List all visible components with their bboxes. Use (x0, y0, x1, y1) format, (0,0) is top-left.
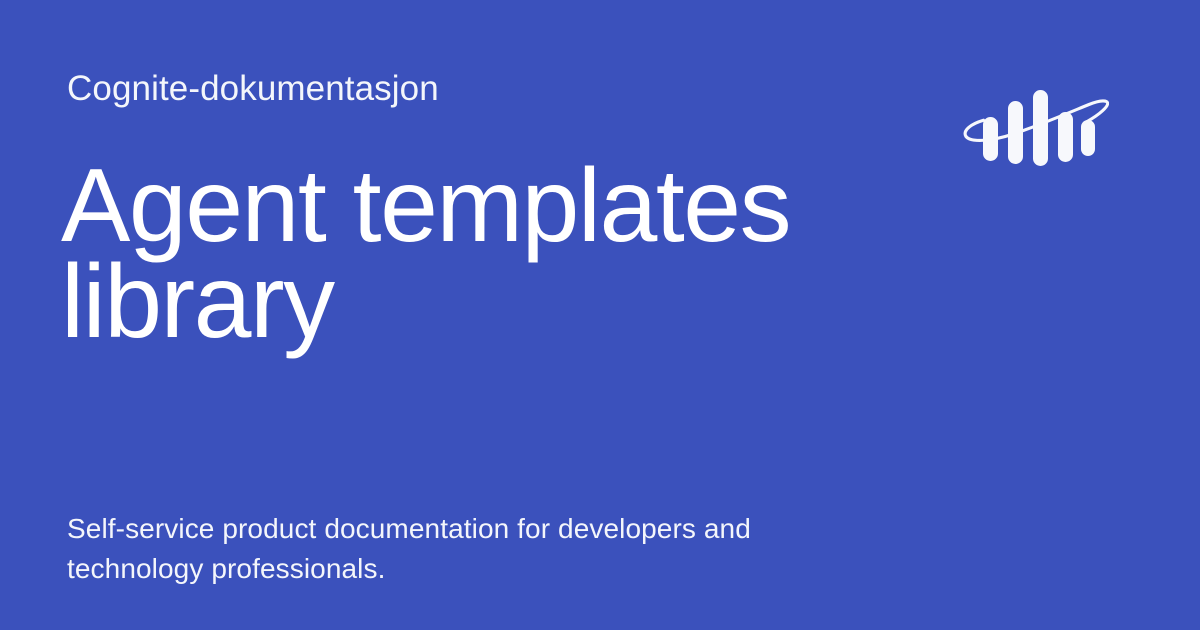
card-content: Cognite-dokumentasjon Agent templates li… (67, 0, 927, 630)
site-name-eyebrow: Cognite-dokumentasjon (67, 67, 439, 111)
page-title: Agent templates library (61, 158, 851, 350)
tagline-line-1: Self-service product documentation for d… (67, 509, 857, 549)
cognite-logo (963, 84, 1109, 176)
tagline: Self-service product documentation for d… (67, 509, 857, 589)
og-card: Cognite-dokumentasjon Agent templates li… (0, 0, 1200, 630)
tagline-line-2: technology professionals. (67, 549, 857, 589)
logo-bars (983, 90, 1095, 166)
